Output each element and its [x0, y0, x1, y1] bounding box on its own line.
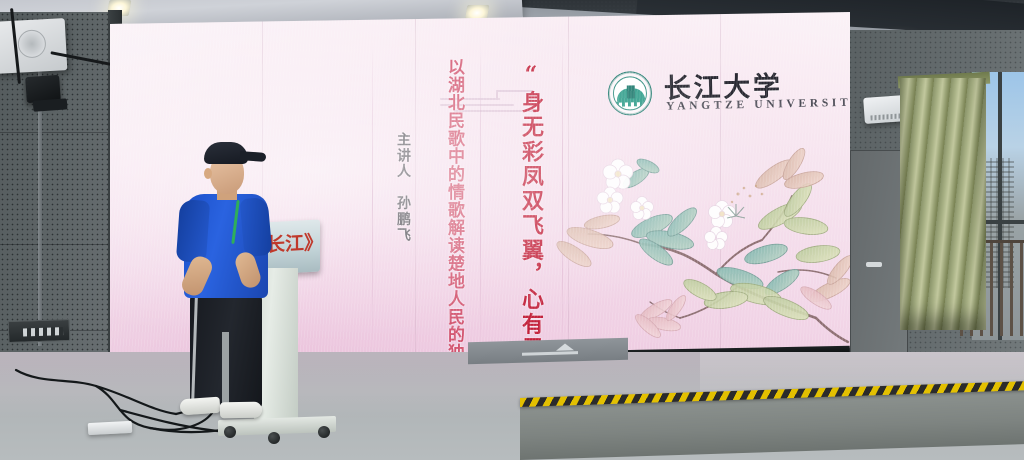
lecture-hall-screenshot: 长江大学 YANGTZE UNIVERSITY “身无彩凤双飞翼，心有灵犀一点通… [0, 0, 1024, 460]
speaker-cone [17, 29, 46, 58]
led-panel-seam [415, 12, 416, 364]
step-marker-icon [556, 343, 574, 351]
door-handle-icon[interactable] [866, 262, 882, 267]
power-outlet-panel [8, 319, 71, 343]
green-curtain [900, 78, 986, 330]
slide-speaker-label: 主讲人 孙鹏飞 [393, 132, 413, 252]
presenter-shoe-left [179, 397, 220, 416]
outlet-slots [23, 327, 63, 336]
step-platform [468, 338, 628, 364]
presenter-shoe-right [220, 402, 262, 419]
floral-illustration [530, 122, 850, 352]
power-strip [88, 421, 133, 435]
wall-mullion [38, 26, 42, 346]
slide-divider-line [372, 42, 373, 342]
presenter-sleeve-right [240, 197, 273, 257]
ptz-camera-icon [25, 75, 61, 103]
presenter [176, 136, 288, 436]
presenter-ear [204, 168, 212, 179]
emblem-ring [609, 72, 652, 115]
podium-caster [318, 426, 330, 438]
university-emblem-icon [607, 71, 652, 116]
slide-quote: “身无彩凤双飞翼，心有灵犀一点通” [515, 62, 547, 360]
presenter-cap [204, 142, 248, 164]
wall-speaker-icon [0, 18, 67, 74]
slide-divider-line [480, 38, 481, 348]
university-logo: 长江大学 YANGTZE UNIVERSITY [607, 62, 788, 128]
presenter-leg-gap [222, 332, 229, 408]
slide-subtitle: 以湖北民歌中的情歌解读楚地人民的独特浪漫 [442, 58, 467, 362]
wall-seam [0, 132, 120, 133]
wall-seam [0, 244, 120, 245]
presenter-sleeve-left [176, 199, 210, 263]
